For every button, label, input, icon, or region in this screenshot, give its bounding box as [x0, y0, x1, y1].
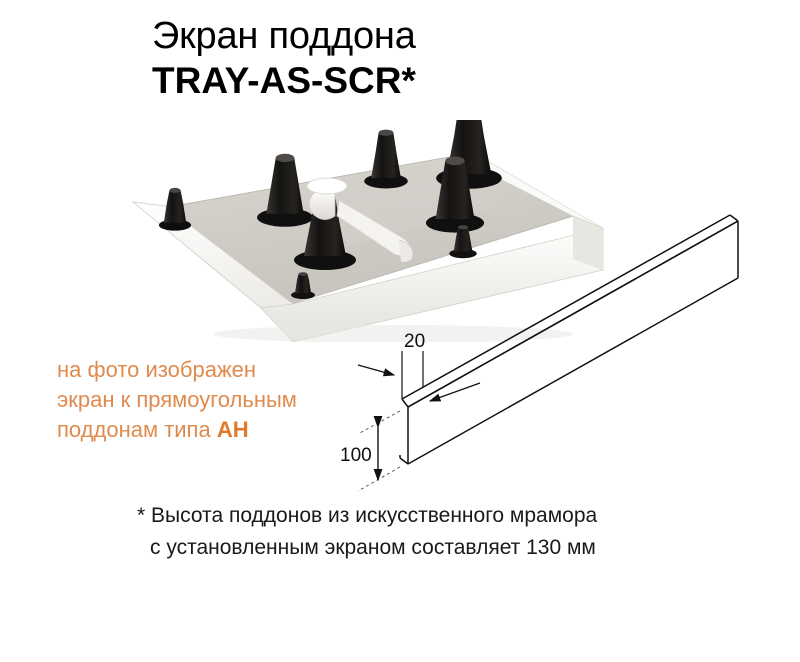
profile-technical-drawing: 20 100: [330, 215, 800, 505]
footnote-line-2: с установленным экраном составляет 130 м…: [150, 532, 737, 564]
dimension-label-100: 100: [340, 445, 372, 466]
footnote-block: * Высота поддонов из искусственного мрам…: [137, 500, 737, 564]
page-title: Экран поддона TRAY-AS-SCR*: [152, 14, 572, 104]
footnote-line-1: * Высота поддонов из искусственного мрам…: [137, 504, 597, 527]
tray-leg: [364, 130, 408, 189]
page-canvas: Экран поддона TRAY-AS-SCR*: [0, 0, 800, 662]
product-title-ru: Экран поддона: [152, 14, 572, 58]
product-code: TRAY-AS-SCR*: [152, 58, 572, 104]
dimension-label-20: 20: [404, 331, 425, 352]
tray-type-code: АН: [217, 417, 249, 442]
caption-line-3-prefix: поддонам типа: [57, 417, 217, 442]
profile-body: [400, 215, 738, 464]
